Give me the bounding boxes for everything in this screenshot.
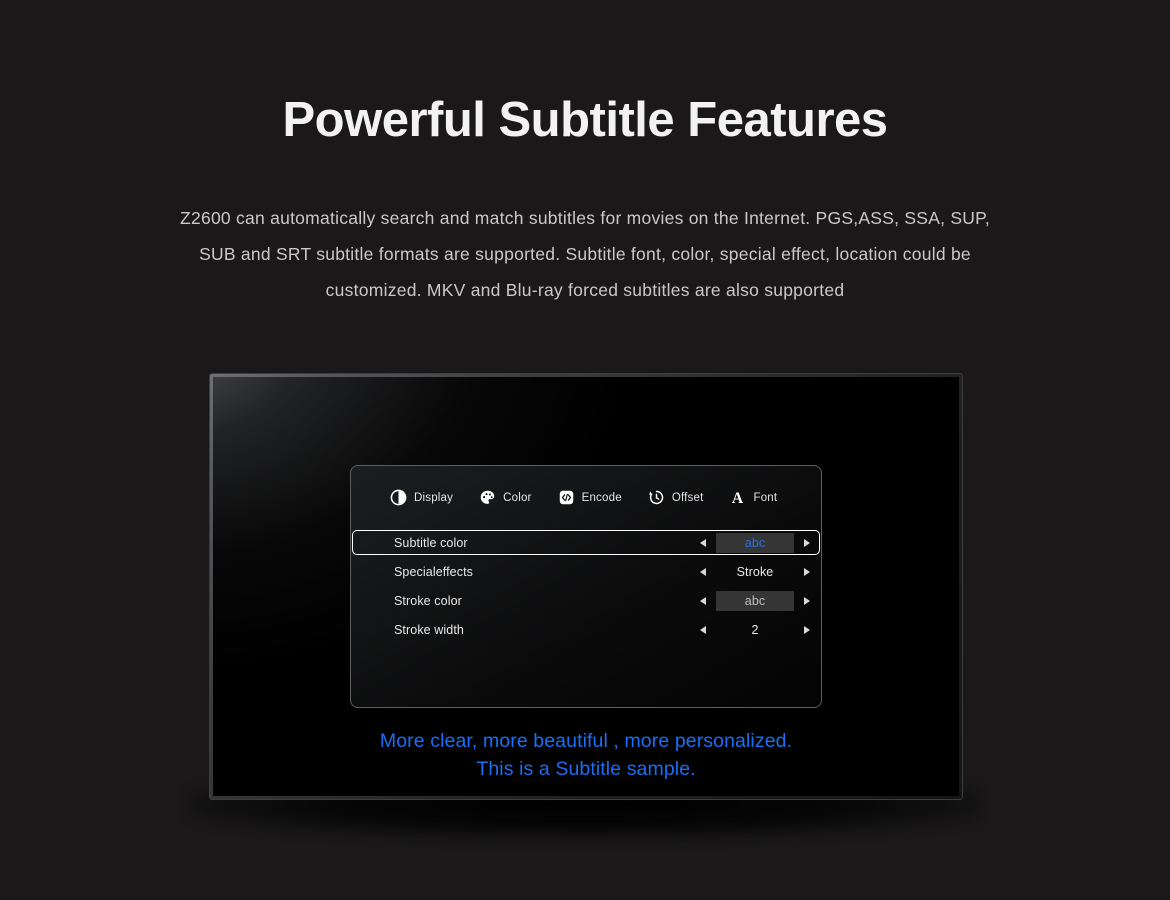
television-illustration: Display	[210, 374, 962, 799]
setting-label-subtitle-color: Subtitle color	[394, 536, 700, 550]
font-a-icon: A	[729, 489, 746, 506]
right-arrow-icon[interactable]	[804, 539, 810, 547]
settings-list: Subtitle color abc Specialeffects	[351, 530, 821, 646]
setting-label-stroke-width: Stroke width	[394, 623, 700, 637]
svg-text:A: A	[732, 490, 744, 506]
tab-font[interactable]: A Font	[729, 489, 777, 506]
tab-offset-label: Offset	[672, 492, 704, 504]
subtitle-settings-panel: Display	[350, 465, 822, 708]
setting-row-subtitle-color[interactable]: Subtitle color abc	[352, 530, 820, 555]
left-arrow-icon[interactable]	[700, 597, 706, 605]
subtitle-sample-line-1: More clear, more beautiful , more person…	[213, 727, 959, 755]
setting-row-specialeffects[interactable]: Specialeffects Stroke	[352, 559, 820, 584]
page-root: Powerful Subtitle Features Z2600 can aut…	[0, 0, 1170, 900]
setting-label-specialeffects: Specialeffects	[394, 565, 700, 579]
setting-value-specialeffects: Stroke	[716, 565, 794, 579]
tab-color[interactable]: Color	[479, 489, 531, 506]
right-arrow-icon[interactable]	[804, 626, 810, 634]
tv-screen: Display	[213, 377, 959, 796]
tab-offset[interactable]: Offset	[648, 489, 704, 506]
setting-row-stroke-width[interactable]: Stroke width 2	[352, 617, 820, 642]
osd-tab-bar: Display	[351, 489, 821, 506]
setting-control-stroke-width: 2	[700, 623, 810, 637]
setting-value-stroke-color: abc	[716, 591, 794, 611]
setting-value-subtitle-color: abc	[716, 533, 794, 553]
palette-icon	[479, 489, 496, 506]
right-arrow-icon[interactable]	[804, 568, 810, 576]
tab-encode[interactable]: Encode	[558, 489, 622, 506]
page-title: Powerful Subtitle Features	[0, 92, 1170, 148]
page-description: Z2600 can automatically search and match…	[160, 200, 1010, 308]
setting-label-stroke-color: Stroke color	[394, 594, 700, 608]
tab-font-label: Font	[753, 492, 777, 504]
contrast-icon	[390, 489, 407, 506]
right-arrow-icon[interactable]	[804, 597, 810, 605]
left-arrow-icon[interactable]	[700, 568, 706, 576]
setting-row-stroke-color[interactable]: Stroke color abc	[352, 588, 820, 613]
setting-control-stroke-color: abc	[700, 591, 810, 611]
tab-display-label: Display	[414, 492, 453, 504]
setting-control-subtitle-color: abc	[700, 533, 810, 553]
tab-encode-label: Encode	[582, 492, 622, 504]
tab-color-label: Color	[503, 492, 531, 504]
setting-control-specialeffects: Stroke	[700, 565, 810, 579]
code-icon	[558, 489, 575, 506]
subtitle-sample-text: More clear, more beautiful , more person…	[213, 727, 959, 783]
setting-value-stroke-width: 2	[716, 623, 794, 637]
tv-bezel: Display	[210, 374, 962, 799]
clock-arrow-icon	[648, 489, 665, 506]
left-arrow-icon[interactable]	[700, 539, 706, 547]
subtitle-sample-line-2: This is a Subtitle sample.	[213, 755, 959, 783]
tab-display[interactable]: Display	[390, 489, 453, 506]
left-arrow-icon[interactable]	[700, 626, 706, 634]
